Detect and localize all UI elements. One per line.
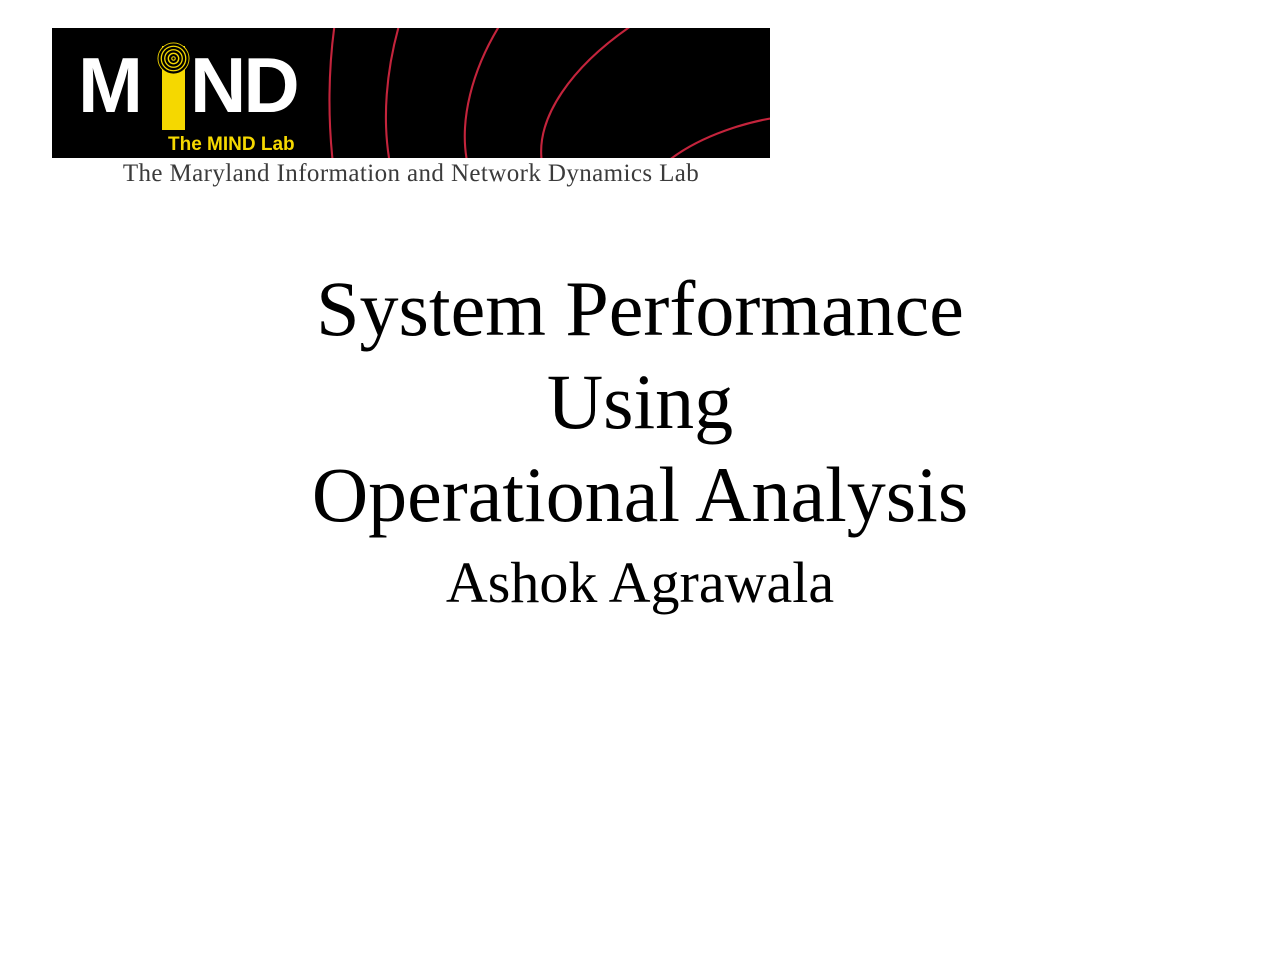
bullseye-target-icon bbox=[157, 42, 190, 75]
wordmark-letters-nd: ND bbox=[190, 48, 297, 122]
wordmark-letter-m: M bbox=[78, 48, 140, 122]
lab-full-name-caption: The Maryland Information and Network Dyn… bbox=[52, 160, 770, 188]
title-line-2: Using bbox=[140, 355, 1140, 448]
logo-sub-label: The MIND Lab bbox=[168, 134, 295, 156]
presentation-slide: M ND The MIND Lab The Maryland Informati… bbox=[0, 0, 1280, 960]
author-name: Ashok Agrawala bbox=[140, 547, 1140, 619]
mind-wordmark: M ND The MIND Lab bbox=[78, 48, 328, 153]
logo-banner: M ND The MIND Lab bbox=[52, 28, 770, 158]
mind-lab-logo: M ND The MIND Lab bbox=[52, 28, 770, 158]
title-line-1: System Performance bbox=[140, 262, 1140, 355]
title-block: System Performance Using Operational Ana… bbox=[140, 262, 1140, 619]
title-line-3: Operational Analysis bbox=[140, 448, 1140, 541]
